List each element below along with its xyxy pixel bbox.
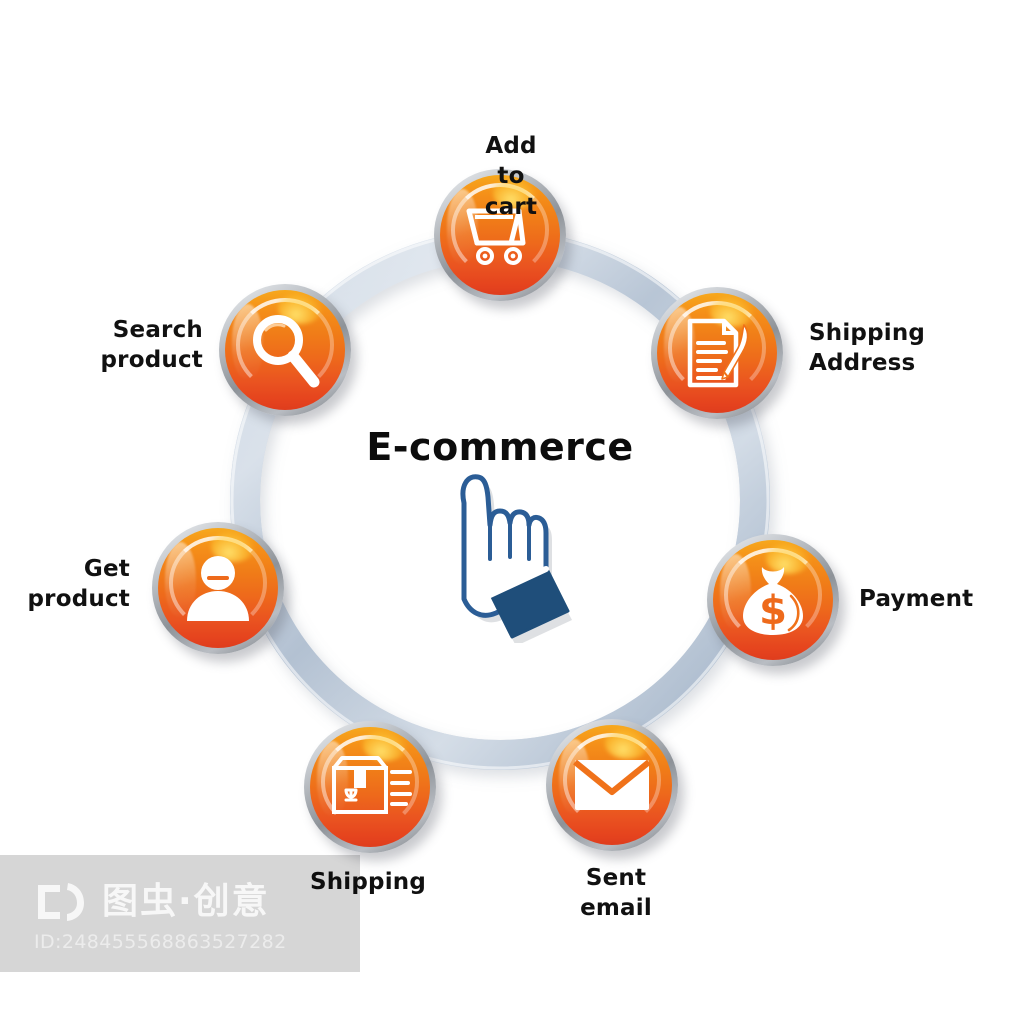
search-product-button[interactable] [219, 284, 351, 416]
document-pen-icon [657, 293, 777, 413]
shipping-address-button[interactable] [651, 287, 783, 419]
button-face [552, 725, 672, 845]
node-label-add-to-cart: Add to cart [485, 131, 537, 222]
watermark-id-text: ID:248455568863527282 [34, 931, 287, 953]
tuchong-logo-icon [34, 879, 88, 925]
watermark-brand-text: 图虫·创意 [102, 884, 270, 920]
money-bag-icon: $ [713, 540, 833, 660]
payment-button[interactable]: $ [707, 534, 839, 666]
svg-text:$: $ [759, 588, 787, 634]
pointing-hand-cursor-icon [434, 463, 594, 643]
shipping-button[interactable] [304, 721, 436, 853]
button-face [657, 293, 777, 413]
node-label-shipping-address: Shipping Address [809, 318, 925, 379]
button-face [225, 290, 345, 410]
sent-email-button[interactable] [546, 719, 678, 851]
button-face: $ [713, 540, 833, 660]
magnifying-glass-icon [225, 290, 345, 410]
button-face [158, 528, 278, 648]
node-label-payment: Payment [859, 584, 973, 614]
envelope-icon [552, 725, 672, 845]
node-label-sent-email: Sent email [580, 863, 652, 924]
node-label-get-product: Get product [28, 554, 130, 615]
watermark-overlay: 图虫·创意 ID:248455568863527282 [0, 855, 360, 972]
watermark-brand-row: 图虫·创意 [34, 879, 270, 925]
package-box-icon [310, 727, 430, 847]
button-face [310, 727, 430, 847]
node-label-search-product: Search product [101, 315, 203, 376]
user-person-icon [158, 528, 278, 648]
get-product-button[interactable] [152, 522, 284, 654]
infographic-canvas: E-commerce [0, 0, 1024, 1024]
